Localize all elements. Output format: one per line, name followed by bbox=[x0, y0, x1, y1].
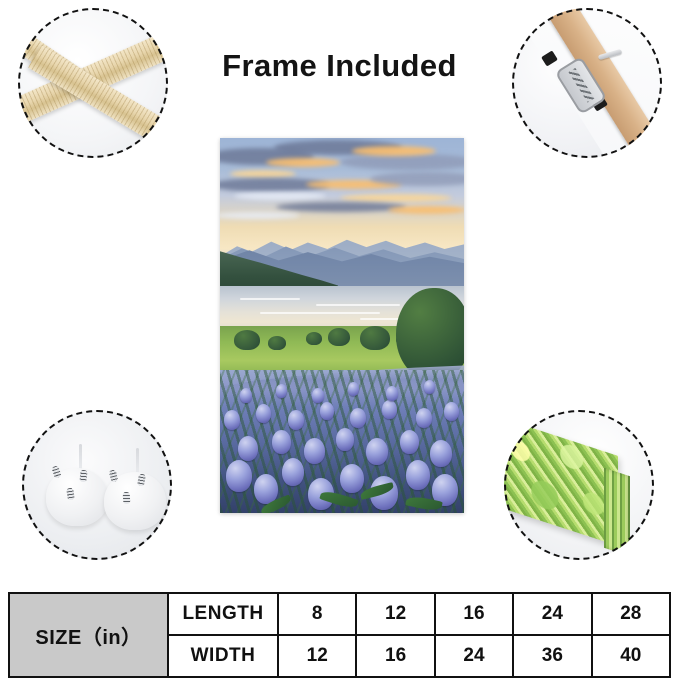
width-value-4: 36 bbox=[513, 635, 591, 677]
size-table: SIZE（in） LENGTH 8 12 16 24 28 WIDTH 12 1… bbox=[8, 592, 671, 678]
length-value-1: 8 bbox=[278, 593, 356, 635]
width-value-2: 16 bbox=[356, 635, 434, 677]
row-header-width: WIDTH bbox=[168, 635, 278, 677]
sawtooth-hanger-inset bbox=[512, 8, 662, 158]
canvas-front-face bbox=[504, 416, 618, 546]
length-value-2: 12 bbox=[356, 593, 434, 635]
canvas-side-edge bbox=[604, 468, 630, 556]
canvas-wrapped-edge-inset bbox=[504, 410, 654, 560]
length-value-4: 24 bbox=[513, 593, 591, 635]
screw-icon bbox=[109, 469, 119, 482]
screw-icon bbox=[79, 470, 87, 483]
table-row: SIZE（in） LENGTH 8 12 16 24 28 bbox=[9, 593, 670, 635]
wood-frame-corner-inset bbox=[18, 8, 168, 158]
wall-hooks-inset bbox=[22, 410, 172, 560]
row-header-length: LENGTH bbox=[168, 593, 278, 635]
artwork-sky bbox=[220, 138, 464, 258]
screw-icon bbox=[66, 488, 75, 501]
width-value-1: 12 bbox=[278, 635, 356, 677]
width-value-5: 40 bbox=[592, 635, 670, 677]
length-value-3: 16 bbox=[435, 593, 513, 635]
product-artwork-canvas bbox=[220, 138, 464, 513]
size-table-header-cell: SIZE（in） bbox=[9, 593, 168, 677]
length-value-5: 28 bbox=[592, 593, 670, 635]
screw-icon bbox=[123, 492, 131, 504]
width-value-3: 24 bbox=[435, 635, 513, 677]
